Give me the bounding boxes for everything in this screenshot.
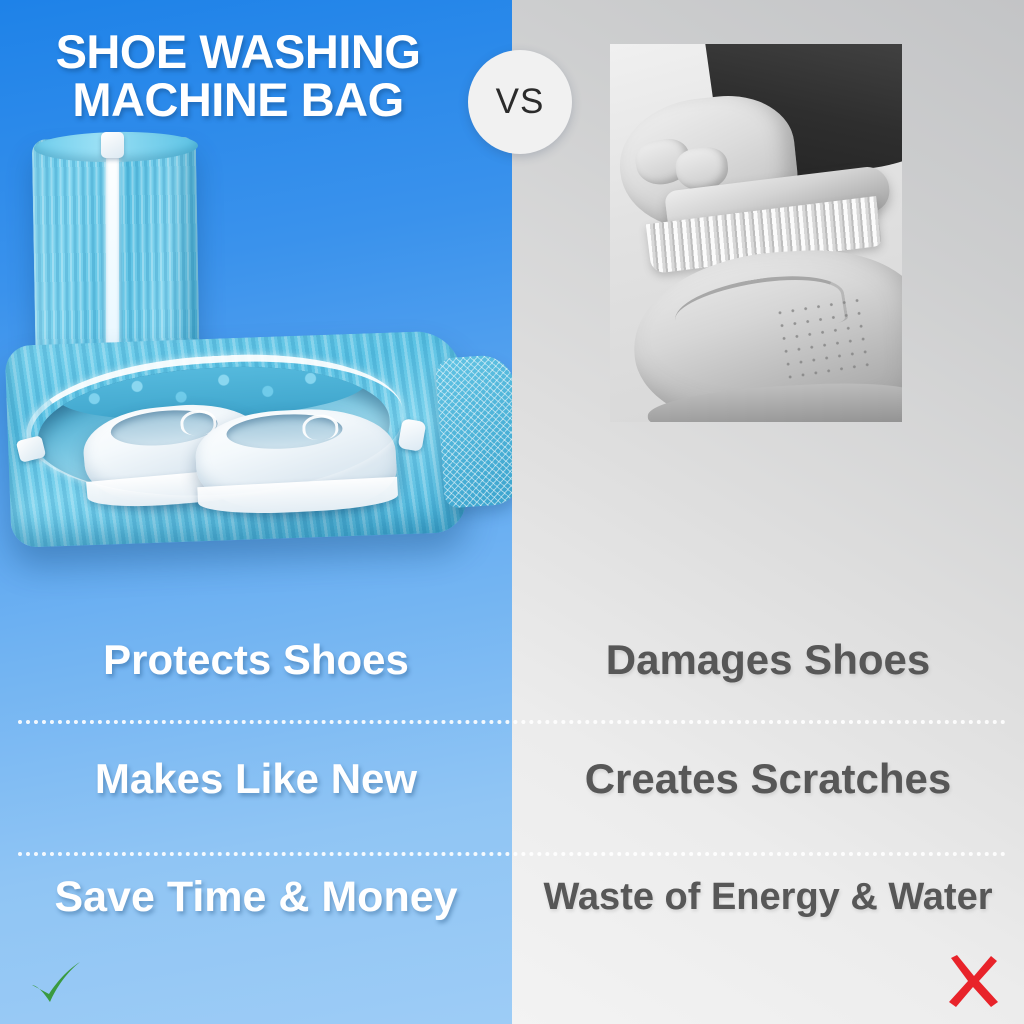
drawback-right-3: Waste of Energy & Water: [512, 876, 1024, 919]
benefit-left-3: Save Time & Money: [0, 873, 512, 922]
brushing-photo: [610, 44, 902, 422]
drawback-right-2: Creates Scratches: [512, 755, 1024, 803]
left-title-line-1: SHOE WASHING: [18, 28, 458, 76]
sneaker-perforations: [773, 293, 876, 382]
vs-badge: VS: [468, 50, 572, 154]
comparison-row: Protects Shoes Damages Shoes: [0, 600, 1024, 720]
drawback-right-1: Damages Shoes: [512, 636, 1024, 684]
row-divider-1: [18, 720, 1006, 724]
vs-badge-label: VS: [496, 82, 545, 122]
bag-mesh-panel: [435, 353, 512, 508]
comparison-poster: SHOE WASHING MACHINE BAG: [0, 0, 1024, 1024]
left-panel-title: SHOE WASHING MACHINE BAG: [18, 28, 458, 124]
benefit-left-2: Makes Like New: [0, 755, 512, 803]
row-divider-2: [18, 852, 1006, 856]
product-photo: [0, 120, 512, 590]
comparison-rows: Protects Shoes Damages Shoes Makes Like …: [0, 600, 1024, 1024]
left-title-line-2: MACHINE BAG: [18, 76, 458, 124]
benefit-left-1: Protects Shoes: [0, 636, 512, 684]
comparison-row: Makes Like New Creates Scratches: [0, 720, 1024, 838]
check-icon: [26, 952, 86, 1012]
cross-icon: [944, 952, 1002, 1010]
sneaker-sole: [647, 379, 902, 422]
